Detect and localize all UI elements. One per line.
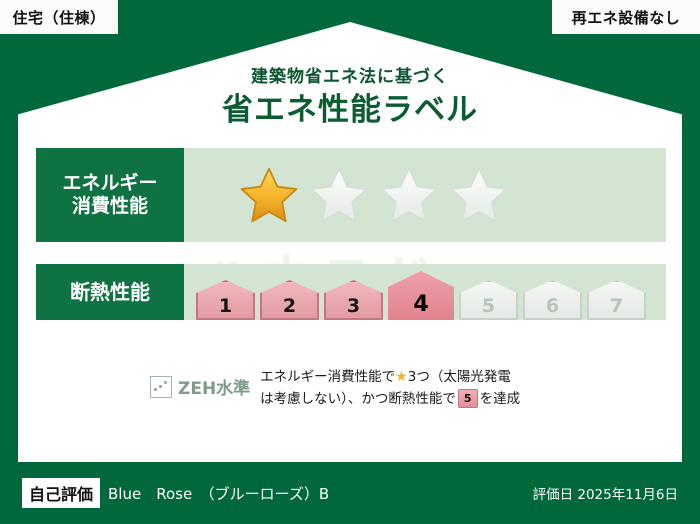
insulation-label-line1: 断熱性能 <box>70 280 150 304</box>
grade-badge-2: 2 <box>260 280 319 320</box>
grade-scale: 1 2 3 4 <box>184 264 646 320</box>
insulation-performance-label-box: 断熱性能 <box>36 264 184 320</box>
grade-3-value: 3 <box>347 295 360 317</box>
building-type-tag: 住宅（住棟） <box>0 0 118 34</box>
grade-4-value: 4 <box>413 292 428 317</box>
energy-label-line2: 消費性能 <box>72 195 148 218</box>
insulation-rating-area: 1 2 3 4 <box>184 264 666 320</box>
star-3-icon <box>378 165 440 225</box>
inline-star-icon: ★ <box>395 369 408 385</box>
inline-grade-badge: 5 <box>458 389 478 408</box>
page-title: 省エネ性能ラベル <box>0 84 700 129</box>
renewable-energy-tag: 再エネ設備なし <box>552 0 700 34</box>
project-name: Blue Rose （ブルーローズ）B <box>108 483 329 504</box>
energy-rating-area <box>184 148 666 242</box>
energy-performance-row: エネルギー 消費性能 <box>36 148 666 242</box>
label-footer: 自己評価 Blue Rose （ブルーローズ）B 評価日 2025年11月6日 <box>0 462 700 524</box>
insulation-performance-row: 断熱性能 1 2 3 <box>36 264 666 320</box>
zeh-label: ZEH水準 <box>178 374 250 399</box>
energy-performance-label-box: エネルギー 消費性能 <box>36 148 184 242</box>
zeh-standard-block: ZEH水準 エネルギー消費性能で★3つ（太陽光発電 は考慮しない）、かつ断熱性能… <box>150 366 590 410</box>
zeh-chart-icon <box>150 376 172 398</box>
zeh-desc-line2-pre: は考慮しない）、かつ断熱性能で <box>260 391 456 407</box>
evaluation-date: 評価日 2025年11月6日 <box>533 483 678 503</box>
zeh-description: エネルギー消費性能で★3つ（太陽光発電 は考慮しない）、かつ断熱性能で5を達成 <box>260 366 520 410</box>
energy-performance-label: ハウスドゥ 住宅（住棟） 再エネ設備なし 建築物省エネ法に基づく 省エネ性能ラベ… <box>0 0 700 524</box>
star-2-icon <box>308 165 370 225</box>
star-4-icon <box>448 165 510 225</box>
grade-6-value: 6 <box>546 295 559 317</box>
grade-1-value: 1 <box>219 295 232 317</box>
grade-badge-5: 5 <box>459 280 518 320</box>
zeh-mark: ZEH水準 <box>150 366 250 399</box>
zeh-desc-line1-post: 3つ（太陽光発電 <box>408 369 511 385</box>
grade-7-value: 7 <box>610 295 623 317</box>
zeh-desc-line2-post: を達成 <box>480 391 521 407</box>
grade-5-value: 5 <box>482 295 495 317</box>
evaluation-type-badge: 自己評価 <box>22 478 100 508</box>
grade-badge-3: 3 <box>324 280 383 320</box>
grade-2-value: 2 <box>283 295 296 317</box>
label-content: 建築物省エネ法に基づく 省エネ性能ラベル エネルギー 消費性能 <box>0 0 700 524</box>
grade-badge-7: 7 <box>587 280 646 320</box>
grade-badge-6: 6 <box>523 280 582 320</box>
energy-label-line1: エネルギー <box>62 172 157 195</box>
star-1-icon <box>238 165 300 225</box>
star-rating <box>184 165 510 225</box>
zeh-desc-line1-pre: エネルギー消費性能で <box>260 369 395 385</box>
grade-badge-1: 1 <box>196 280 255 320</box>
grade-badge-4-current: 4 <box>388 271 454 320</box>
